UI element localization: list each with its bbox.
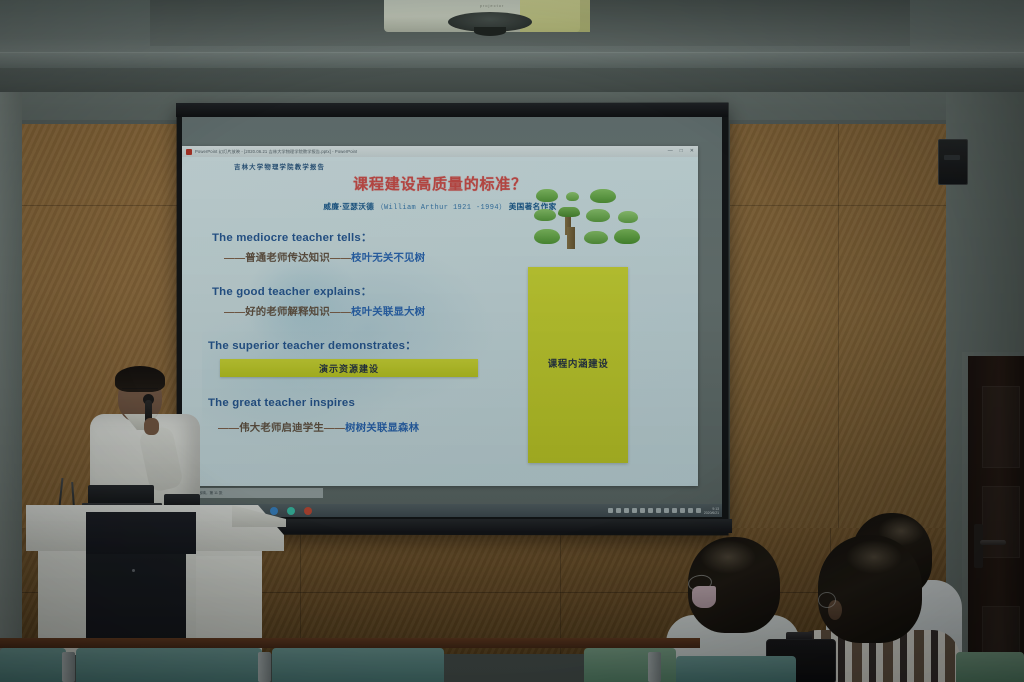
door-icon[interactable] <box>968 356 1024 682</box>
side-panel-label: 课程内涵建设 <box>548 359 609 371</box>
cn-b: 枝叶关联显大树 <box>351 307 425 318</box>
dash: —— <box>224 307 245 318</box>
wood-seam <box>300 528 301 654</box>
laptop-icon <box>88 485 154 505</box>
dash: —— <box>324 423 345 434</box>
door-lock <box>974 524 983 568</box>
wall-speaker-icon <box>938 139 968 185</box>
system-tray[interactable]: 9:13 2020/6/21 <box>608 504 719 517</box>
seat-bracket <box>62 652 75 682</box>
slide-line-en: The superior teacher demonstrates： <box>208 337 417 353</box>
tray-icon-3[interactable] <box>624 508 629 513</box>
highlight-bar-label: 演示资源建设 <box>319 362 379 375</box>
dash: —— <box>330 253 351 264</box>
cn-a: 伟大老师启迪学生 <box>239 423 324 434</box>
maximize-button[interactable]: □ <box>680 148 683 154</box>
cn-a: 好的老师解释知识 <box>245 307 330 318</box>
tray-icon-5[interactable] <box>640 508 645 513</box>
tray-icon-8[interactable] <box>664 508 669 513</box>
browser-icon[interactable] <box>270 507 278 515</box>
side-panel: 课程内涵建设 <box>528 267 628 463</box>
wood-seam <box>560 528 561 654</box>
slide-line-cn: ——普通老师传达知识——枝叶无关不见树 <box>224 249 425 264</box>
seat <box>584 648 676 682</box>
cn-b: 枝叶无关不见树 <box>351 253 425 264</box>
taskbar-clock[interactable]: 9:13 2020/6/21 <box>704 507 719 515</box>
tray-icon-10[interactable] <box>680 508 685 513</box>
seat <box>0 648 66 682</box>
dash: —— <box>218 423 239 434</box>
podium-dot <box>132 569 135 572</box>
powerpoint-icon[interactable] <box>304 507 312 515</box>
speaker-grille <box>944 155 960 160</box>
window-title: PowerPoint 幻灯片放映 - [2020.06.21 吉林大学物理学院教… <box>195 149 357 155</box>
ceiling-shadow <box>0 68 1024 94</box>
podium-front-panel <box>86 512 196 554</box>
screen-top-bar <box>176 103 728 117</box>
attribution-name-en: （William Arthur 1921 -1994） <box>377 204 507 212</box>
face-mask-icon <box>692 586 716 608</box>
slide-line-cn: ——伟大老师启迪学生——树树关联显森林 <box>218 419 419 434</box>
tray-icon-12[interactable] <box>696 508 701 513</box>
tray-icon-11[interactable] <box>688 508 693 513</box>
ceiling-band <box>0 52 1024 69</box>
wood-seam <box>22 205 182 206</box>
seat-bracket <box>648 652 661 682</box>
clock-date: 2020/6/21 <box>704 511 719 515</box>
slide-canvas: 吉林大学物理学院教学报告 课程建设高质量的标准？ 威廉·亚瑟沃德 （Willia… <box>182 157 698 486</box>
door-panel <box>982 386 1020 468</box>
glasses-icon <box>122 388 158 395</box>
window-controls[interactable]: — □ ✕ <box>668 148 694 154</box>
seat-rail <box>0 638 700 648</box>
head-highlight <box>846 540 902 574</box>
seat-bracket <box>258 652 271 682</box>
desktop: PowerPoint 幻灯片放映 - [2020.06.21 吉林大学物理学院教… <box>182 117 722 517</box>
seat <box>676 656 796 682</box>
head-highlight <box>700 540 756 574</box>
tree-cluster-icon <box>534 189 644 251</box>
dash: —— <box>224 253 245 264</box>
tray-icon-6[interactable] <box>648 508 653 513</box>
projector-lens-hood <box>474 27 506 36</box>
cn-a: 普通老师传达知识 <box>245 253 330 264</box>
door-handle[interactable] <box>980 540 1006 545</box>
minimize-button[interactable]: — <box>668 148 673 154</box>
slide-line-en: The mediocre teacher tells： <box>212 229 373 245</box>
slide-line-cn: ——好的老师解释知识——枝叶关联显大树 <box>224 303 425 318</box>
door-panel <box>982 486 1020 558</box>
seat <box>76 648 262 682</box>
slide-line-en: The great teacher inspires <box>208 397 355 409</box>
lecture-hall-photo: projector PowerPoint 幻灯片放映 - [2020.06.21… <box>0 0 1024 682</box>
seat <box>956 652 1024 682</box>
slide-header: 吉林大学物理学院教学报告 <box>234 162 325 171</box>
powerpoint-window[interactable]: PowerPoint 幻灯片放映 - [2020.06.21 吉林大学物理学院教… <box>182 146 698 486</box>
powerpoint-titlebar[interactable]: PowerPoint 幻灯片放映 - [2020.06.21 吉林大学物理学院教… <box>182 146 698 157</box>
close-button[interactable]: ✕ <box>690 148 694 154</box>
presenter-hand <box>144 418 159 435</box>
tray-icon-7[interactable] <box>656 508 661 513</box>
cn-b: 树树关联显森林 <box>345 423 419 434</box>
screen-bottom-bar <box>272 519 732 533</box>
highlight-bar: 演示资源建设 <box>220 359 478 377</box>
dash: —— <box>330 307 351 318</box>
powerpoint-icon <box>186 149 192 155</box>
seat <box>272 648 444 682</box>
tray-icon-1[interactable] <box>608 508 613 513</box>
wood-seam <box>838 124 839 544</box>
glasses-icon <box>818 592 836 608</box>
tray-icon-2[interactable] <box>616 508 621 513</box>
wall-left-strip <box>0 92 22 682</box>
chat-icon[interactable] <box>287 507 295 515</box>
attribution-name-cn: 威廉·亚瑟沃德 <box>323 202 374 211</box>
projector-label: projector <box>452 3 532 8</box>
tray-icon-9[interactable] <box>672 508 677 513</box>
slide-line-en: The good teacher explains： <box>212 283 372 299</box>
tray-icon-4[interactable] <box>632 508 637 513</box>
